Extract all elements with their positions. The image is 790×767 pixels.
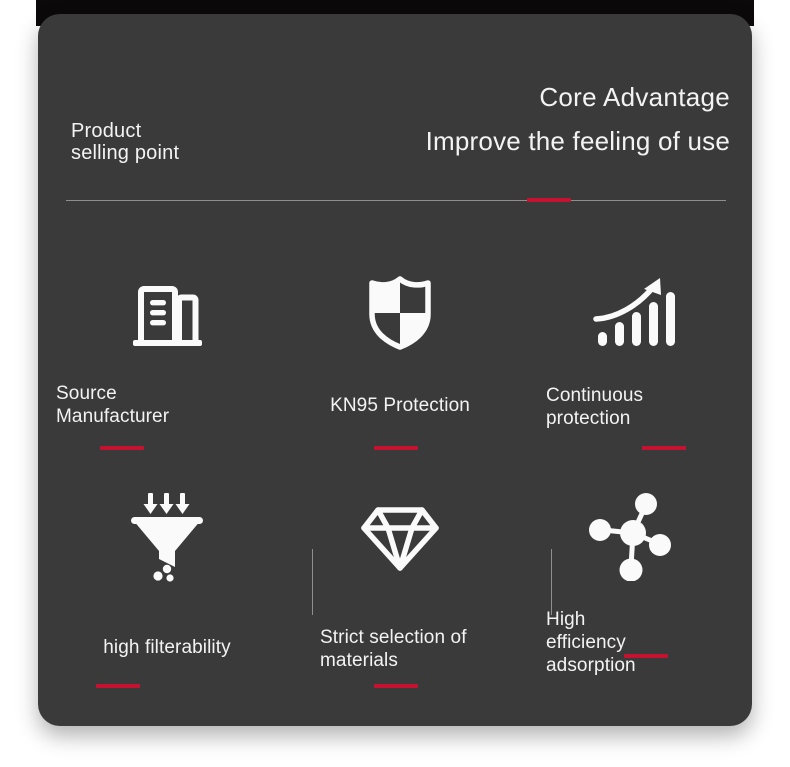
feature-item-high-efficiency-adsorption[interactable]: High efficiency adsorption [514, 458, 752, 688]
product-selling-point-line-2: selling point [71, 142, 179, 164]
feature-label-line-2: Manufacturer [56, 405, 286, 428]
feature-accent-underline [374, 446, 418, 450]
feature-label-continuous-protection: Continuous protection [514, 384, 752, 430]
header-accent-marker [527, 198, 571, 202]
feature-label-line-2: efficiency [546, 631, 752, 654]
header-divider-rule [66, 200, 726, 201]
growth-chart-icon [514, 272, 752, 354]
shield-icon [286, 272, 514, 354]
feature-accent-underline [96, 684, 140, 688]
feature-accent-underline [374, 684, 418, 688]
product-selling-point-line-1: Product [71, 120, 179, 142]
feature-row-1: Source Manufacturer [38, 234, 752, 464]
feature-label-line-1: Continuous [546, 384, 752, 407]
feature-item-high-filterability[interactable]: high filterability [48, 458, 286, 688]
feature-label-line-1: Strict selection of [320, 626, 514, 649]
feature-label-high-filterability: high filterability [48, 636, 286, 659]
factory-icon [48, 272, 286, 354]
card-header: Product selling point Core Advantage Imp… [38, 14, 752, 210]
core-advantage-title: Core Advantage [539, 82, 730, 113]
feature-item-continuous-protection[interactable]: Continuous protection [514, 234, 752, 464]
feature-item-kn95-protection[interactable]: KN95 Protection [286, 234, 514, 464]
feature-accent-underline [100, 446, 144, 450]
feature-accent-underline [642, 446, 686, 450]
page-bottom-margin [0, 725, 790, 767]
funnel-icon [48, 496, 286, 578]
feature-label-kn95-protection: KN95 Protection [286, 394, 514, 417]
feature-label-line-1: Source [56, 382, 286, 405]
feature-item-strict-selection-of-materials[interactable]: Strict selection of materials [286, 458, 514, 688]
feature-label-source-manufacturer: Source Manufacturer [48, 382, 286, 428]
feature-label-line-1: KN95 Protection [286, 394, 514, 417]
feature-row-2: high filterability [38, 458, 752, 688]
product-selling-point-card: Product selling point Core Advantage Imp… [38, 14, 752, 726]
feature-label-strict-selection-of-materials: Strict selection of materials [286, 626, 514, 672]
page-left-margin [0, 0, 36, 767]
molecule-icon [514, 496, 752, 578]
feature-label-line-2: protection [546, 407, 752, 430]
feature-accent-underline [624, 654, 668, 658]
feature-grid: Source Manufacturer [38, 214, 752, 714]
feature-label-high-efficiency-adsorption: High efficiency adsorption [514, 608, 752, 678]
diamond-icon [286, 496, 514, 578]
feature-item-source-manufacturer[interactable]: Source Manufacturer [48, 234, 286, 464]
page-right-margin [754, 0, 790, 767]
product-selling-point-heading: Product selling point [71, 120, 179, 165]
feature-label-line-1: high filterability [48, 636, 286, 659]
feature-label-line-1: High [546, 608, 752, 631]
feature-label-line-2: materials [320, 649, 514, 672]
core-advantage-subtitle: Improve the feeling of use [426, 126, 730, 157]
